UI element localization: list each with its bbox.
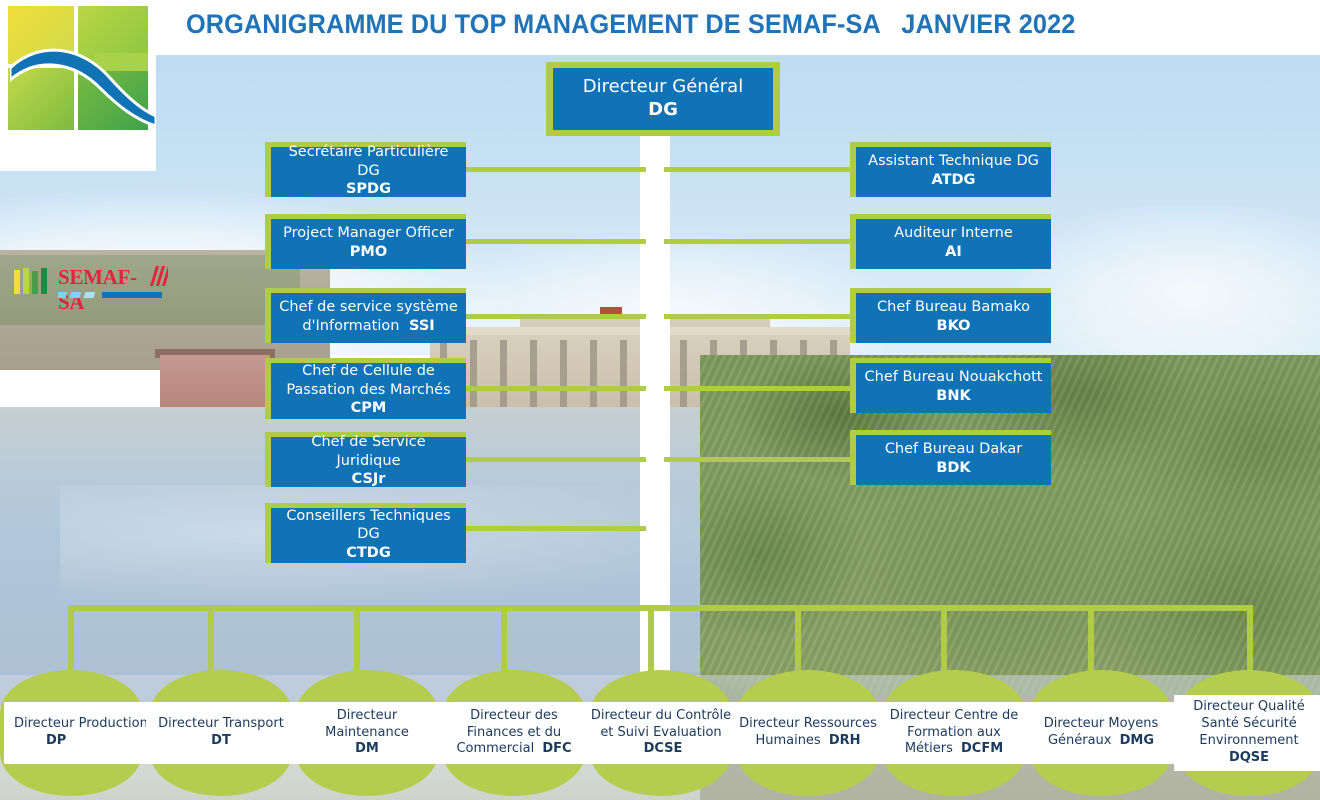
card-text: Chef Bureau Bamako BKO	[877, 298, 1030, 335]
node-dt[interactable]: Directeur Transport DT	[150, 670, 292, 796]
director-drop-7	[941, 611, 947, 677]
organigramme-canvas: ORGANIGRAMME DU TOP MANAGEMENT DE SEMAF-…	[0, 0, 1320, 800]
director-drop-6	[795, 611, 801, 677]
node-drh[interactable]: Directeur Ressources Humaines DRH	[737, 670, 879, 796]
director-drop-1	[68, 605, 74, 677]
connector-left-1	[466, 167, 646, 172]
logo-slashes-icon	[146, 266, 168, 286]
node-code: DP	[14, 733, 150, 750]
node-dm[interactable]: Directeur Maintenance DM	[296, 670, 438, 796]
card-pmo[interactable]: Project Manager Officer PMO	[265, 214, 466, 269]
card-code: BDK	[885, 459, 1022, 478]
connector-right-5	[664, 457, 850, 462]
node-role: Directeur Maintenance	[296, 708, 438, 742]
director-bus-horizontal	[68, 605, 1253, 611]
node-dcfm[interactable]: Directeur Centre de Formation aux Métier…	[883, 670, 1025, 796]
card-text: Assistant Technique DG ATDG	[868, 152, 1039, 189]
node-code: DM	[296, 741, 438, 758]
card-code: SSI	[404, 318, 435, 334]
card-text: Secrétaire Particulière DG SPDG	[279, 143, 458, 199]
node-dfc[interactable]: Directeur des Finances et du Commercial …	[443, 670, 585, 796]
node-code: DRH	[825, 733, 861, 748]
card-code: CPM	[279, 399, 458, 418]
node-plate: Directeur Centre de Formation aux Métier…	[879, 702, 1029, 764]
node-text: Directeur Ressources Humaines DRH	[737, 716, 879, 750]
connector-right-3	[664, 314, 850, 319]
card-csjr[interactable]: Chef de Service Juridique CSJr	[265, 432, 466, 487]
director-drop-4	[501, 611, 507, 677]
card-code: CTDG	[279, 544, 458, 563]
node-role: Directeur Qualité Santé Sécurité Environ…	[1178, 699, 1320, 750]
card-role: Chef Bureau Nouakchott	[865, 368, 1043, 387]
director-drop-9	[1247, 605, 1253, 677]
connector-left-4	[466, 386, 646, 391]
node-text: Directeur Centre de Formation aux Métier…	[883, 708, 1025, 759]
card-text: Directeur Général DG	[583, 75, 743, 121]
node-code: DMG	[1116, 733, 1154, 748]
card-role: Chef Bureau Dakar	[885, 440, 1022, 459]
node-code: DFC	[538, 741, 571, 756]
node-dp[interactable]: Directeur Production DP	[0, 670, 142, 796]
node-text: Directeur Maintenance DM	[296, 708, 438, 759]
connector-right-4	[664, 386, 850, 391]
card-role: Project Manager Officer	[283, 224, 454, 243]
node-plate: Directeur des Finances et du Commercial …	[439, 702, 589, 764]
connector-left-3	[466, 314, 646, 319]
vertical-trunk-connector	[640, 132, 670, 672]
connector-left-2	[466, 239, 646, 244]
director-drop-5	[648, 611, 654, 677]
card-text: Chef de service système d'Information SS…	[279, 298, 458, 335]
logo-tile-grid	[8, 6, 148, 130]
riverside-building	[160, 355, 270, 407]
card-code: CSJr	[279, 470, 458, 489]
card-text: Auditeur Interne AI	[894, 224, 1013, 261]
card-code: SPDG	[279, 180, 458, 199]
node-plate: Directeur Ressources Humaines DRH	[733, 702, 883, 764]
node-text: Directeur des Finances et du Commercial …	[443, 708, 585, 759]
card-role: Auditeur Interne	[894, 224, 1013, 243]
node-dcse[interactable]: Directeur du Contrôle et Suivi Evaluatio…	[590, 670, 732, 796]
card-text: Chef de Cellule de Passation des Marchés…	[279, 362, 458, 418]
logo-wordmark: SEMAF-SA	[6, 132, 152, 166]
card-text: Chef de Service Juridique CSJr	[279, 433, 458, 489]
card-spdg[interactable]: Secrétaire Particulière DG SPDG	[265, 142, 466, 197]
node-role: Directeur Transport	[158, 716, 284, 733]
node-dmg[interactable]: Directeur Moyens Généraux DMG	[1030, 670, 1172, 796]
card-role: Chef Bureau Bamako	[877, 298, 1030, 317]
card-code: PMO	[283, 243, 454, 262]
card-code: ATDG	[868, 171, 1039, 190]
card-bdk[interactable]: Chef Bureau Dakar BDK	[850, 430, 1051, 485]
node-role: Directeur du Contrôle et Suivi Evaluatio…	[591, 708, 731, 740]
card-text: Conseillers Techniques DG CTDG	[279, 507, 458, 563]
card-role: Conseillers Techniques DG	[279, 507, 458, 544]
cloud-right	[1020, 205, 1320, 365]
node-dqse[interactable]: Directeur Qualité Santé Sécurité Environ…	[1178, 670, 1320, 796]
logo-wave-icon	[10, 44, 156, 126]
node-text: Directeur Qualité Santé Sécurité Environ…	[1178, 699, 1320, 767]
node-text: Directeur du Contrôle et Suivi Evaluatio…	[590, 708, 732, 759]
node-text: Directeur Production DP	[8, 716, 150, 750]
card-text: Project Manager Officer PMO	[283, 224, 454, 261]
node-code: DQSE	[1178, 750, 1320, 767]
node-code: DCSE	[640, 741, 683, 756]
card-code: AI	[894, 243, 1013, 262]
connector-left-6	[466, 526, 646, 531]
card-role-text: Conseillers Techniques DG	[286, 508, 450, 543]
card-bko[interactable]: Chef Bureau Bamako BKO	[850, 288, 1051, 343]
director-drop-8	[1088, 611, 1094, 677]
node-plate: Directeur Transport DT	[146, 702, 296, 764]
semaf-sa-logo: SEMAF-SA	[0, 0, 156, 171]
node-text: Directeur Moyens Généraux DMG	[1030, 716, 1172, 750]
card-text: Chef Bureau Nouakchott BNK	[865, 368, 1043, 405]
connector-right-1	[664, 167, 850, 172]
director-drop-3	[354, 611, 360, 677]
node-code: DT	[158, 733, 284, 750]
node-code: DCFM	[957, 741, 1003, 756]
card-code: BKO	[877, 317, 1030, 336]
card-directeur-general[interactable]: Directeur Général DG	[546, 62, 780, 136]
card-text: Chef Bureau Dakar BDK	[885, 440, 1022, 477]
node-text: Directeur Transport DT	[158, 716, 284, 750]
page-title: ORGANIGRAMME DU TOP MANAGEMENT DE SEMAF-…	[186, 9, 1075, 40]
card-role: Chef de Service Juridique	[279, 433, 458, 470]
card-bnk[interactable]: Chef Bureau Nouakchott BNK	[850, 358, 1051, 413]
card-role: Chef de Cellule de Passation des Marchés	[279, 362, 458, 399]
card-ai[interactable]: Auditeur Interne AI	[850, 214, 1051, 269]
card-cpm[interactable]: Chef de Cellule de Passation des Marchés…	[265, 358, 466, 419]
connector-left-5	[466, 457, 646, 462]
node-plate: Directeur Qualité Santé Sécurité Environ…	[1174, 695, 1320, 771]
card-ctdg[interactable]: Conseillers Techniques DG CTDG	[265, 503, 466, 563]
node-plate: Directeur Production DP	[4, 702, 154, 764]
logo-bars-icon	[14, 268, 54, 294]
node-plate: Directeur Moyens Généraux DMG	[1026, 702, 1176, 764]
card-role: Assistant Technique DG	[868, 152, 1039, 171]
node-role: Directeur Production	[14, 716, 150, 733]
card-atdg[interactable]: Assistant Technique DG ATDG	[850, 142, 1051, 197]
card-ssi[interactable]: Chef de service système d'Information SS…	[265, 288, 466, 343]
connector-right-2	[664, 239, 850, 244]
card-code: BNK	[865, 387, 1043, 406]
node-plate: Directeur Maintenance DM	[292, 702, 442, 764]
node-plate: Directeur du Contrôle et Suivi Evaluatio…	[586, 702, 736, 764]
logo-underline-bars-icon	[58, 290, 162, 300]
card-role: Directeur Général	[583, 75, 743, 98]
card-role: Secrétaire Particulière DG	[279, 143, 458, 180]
director-drop-2	[208, 611, 214, 677]
card-code: DG	[583, 98, 743, 121]
